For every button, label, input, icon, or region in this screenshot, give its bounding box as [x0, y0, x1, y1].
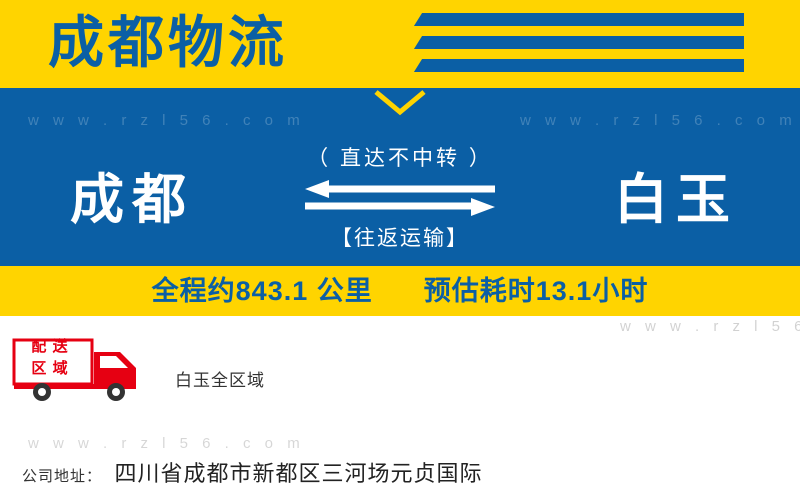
stats-row: 全程约843.1 公里 预估耗时13.1小时	[0, 266, 800, 316]
duration-text: 预估耗时13.1小时	[424, 276, 649, 306]
destination-city: 白玉	[614, 168, 738, 232]
distance-text: 全程约843.1 公里	[152, 276, 373, 306]
stats-band: 全程约843.1 公里 预估耗时13.1小时	[0, 266, 800, 316]
page-title: 成都物流	[48, 6, 288, 80]
watermark-2: w w w . r z l 5 6 . c o m	[520, 112, 797, 129]
header-band: 成都物流	[0, 0, 800, 88]
round-trip-note: 【往返运输】	[260, 222, 540, 252]
origin-city: 成都	[70, 168, 194, 232]
truck-label: 配 送 区 域	[20, 336, 80, 382]
chevron-stripe-3	[414, 59, 752, 72]
address-value: 四川省成都市新都区三河场元贞国际	[114, 461, 482, 486]
watermark-3: w w w . r z l 5 6 . c o m	[620, 318, 800, 335]
chevron-stripe-1	[414, 13, 752, 26]
chevron-down-icon	[374, 90, 426, 116]
truck-label-line1: 配 送	[20, 336, 80, 358]
watermark-1: w w w . r z l 5 6 . c o m	[28, 112, 305, 129]
coverage-area-text: 白玉全区域	[175, 366, 265, 391]
company-address-row: 公司地址： 四川省成都市新都区三河场元贞国际	[22, 456, 482, 488]
address-label: 公司地址：	[22, 468, 102, 485]
logistics-banner: 成都物流 w w w . r z l 5 6 . c o m w w w . r…	[0, 0, 800, 500]
truck-label-line2: 区 域	[20, 358, 80, 380]
watermark-4: w w w . r z l 5 6 . c o m	[28, 435, 305, 452]
chevron-stripe-2	[414, 36, 752, 49]
round-trip-arrows-icon	[305, 180, 495, 216]
chevron-mask	[744, 0, 800, 88]
chevron-stripes	[400, 0, 800, 88]
direct-service-note: （ 直达不中转 ）	[260, 142, 540, 172]
